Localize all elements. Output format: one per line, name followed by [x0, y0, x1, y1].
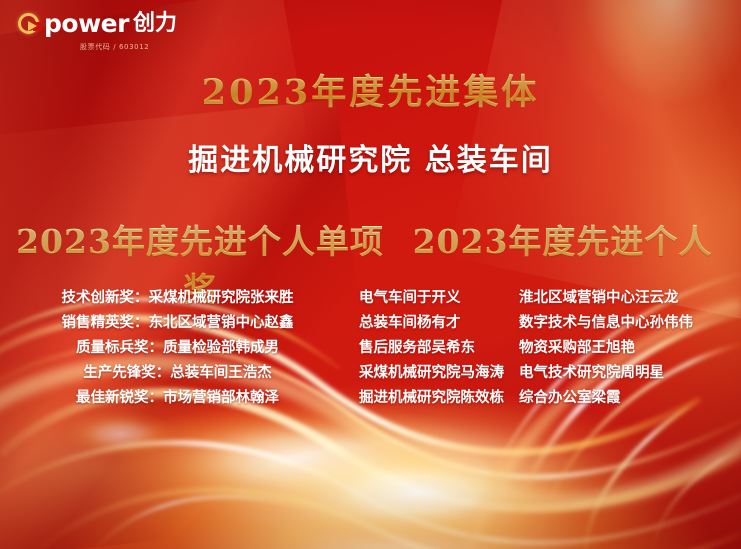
c-power-ring-icon — [18, 13, 39, 34]
person-name: 电气技术研究院周明星 — [519, 360, 664, 385]
person-name: 物资采购部王旭艳 — [519, 335, 635, 360]
person-name: 总装车间杨有才 — [359, 310, 519, 335]
table-row: 总装车间杨有才 数字技术与信息中心孙伟伟 — [359, 310, 741, 335]
table-row: 采煤机械研究院马海涛 电气技术研究院周明星 — [359, 360, 741, 385]
person-name: 掘进机械研究院陈效栋 — [359, 385, 519, 410]
person-name: 数字技术与信息中心孙伟伟 — [519, 310, 693, 335]
person-name: 淮北区域营销中心汪云龙 — [519, 285, 679, 310]
award-poster: power 创力 股票代码 / 603012 2023年度先进集体 掘进机械研究… — [0, 0, 741, 549]
company-logo[interactable]: power 创力 股票代码 / 603012 — [18, 11, 177, 52]
stock-code-label: 股票代码 / 603012 — [80, 42, 149, 52]
person-name: 采煤机械研究院马海涛 — [359, 360, 519, 385]
table-row: 掘进机械研究院陈效栋 综合办公室梁霞 — [359, 385, 741, 410]
award-lists: 技术创新奖：采煤机械研究院张来胜 销售精英奖：东北区域营销中心赵鑫 质量标兵奖：… — [0, 285, 741, 410]
logo-wordmark: power — [44, 11, 129, 36]
table-row: 电气车间于开义 淮北区域营销中心汪云龙 — [359, 285, 741, 310]
logo-wordmark-cn: 创力 — [133, 13, 177, 35]
page-title: 2023年度先进集体 — [0, 64, 741, 115]
list-item: 质量标兵奖：质量检验部韩成男 — [76, 335, 279, 360]
list-item: 技术创新奖：采煤机械研究院张来胜 — [62, 285, 294, 310]
list-item: 最佳新锐奖：市场营销部林翰泽 — [76, 385, 279, 410]
table-row: 售后服务部吴希东 物资采购部王旭艳 — [359, 335, 741, 360]
logo-row: power 创力 — [18, 11, 177, 36]
list-item: 销售精英奖：东北区域营销中心赵鑫 — [62, 310, 294, 335]
special-awards-column: 技术创新奖：采煤机械研究院张来胜 销售精英奖：东北区域营销中心赵鑫 质量标兵奖：… — [0, 285, 355, 410]
person-name: 综合办公室梁霞 — [519, 385, 621, 410]
page-subtitle: 掘进机械研究院 总装车间 — [0, 135, 741, 179]
person-name: 售后服务部吴希东 — [359, 335, 519, 360]
list-item: 生产先锋奖：总装车间王浩杰 — [83, 360, 272, 385]
individuals-column: 电气车间于开义 淮北区域营销中心汪云龙 总装车间杨有才 数字技术与信息中心孙伟伟… — [355, 285, 741, 410]
person-name: 电气车间于开义 — [359, 285, 519, 310]
